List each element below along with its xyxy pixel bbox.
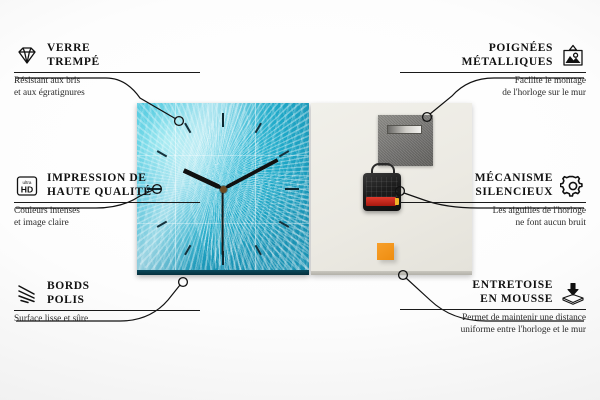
feature-header: ultra HD IMPRESSION DE HAUTE QUALITÉ: [14, 172, 200, 199]
clock-tick: [222, 113, 224, 189]
foam-spacer-icon: [560, 281, 586, 305]
gear-icon: [560, 174, 586, 198]
diamond-icon: [14, 44, 40, 68]
feature-header: ENTRETOISE EN MOUSSE: [400, 279, 586, 306]
feature-header: MÉCANISME SILENCIEUX: [400, 172, 586, 199]
svg-text:HD: HD: [21, 184, 33, 194]
mechanism-texture: [366, 177, 398, 197]
metal-hanger-plate: [378, 115, 433, 166]
feature-description: Résistant aux bris et aux égratignures: [14, 76, 200, 99]
clock-mechanism: [363, 173, 401, 211]
feature-description: Les aiguilles de l'horloge ne font aucun…: [400, 206, 586, 229]
divider: [14, 310, 200, 311]
feature-bords-polis[interactable]: BORDS POLIS Surface lisse et sûre: [14, 280, 200, 326]
feature-poignees-metalliques[interactable]: POIGNÉES MÉTALLIQUES Facilite le montage…: [400, 42, 586, 99]
feature-title: VERRE TREMPÉ: [47, 42, 100, 69]
clock-second-hand: [222, 189, 224, 255]
clock-tick: [223, 188, 299, 190]
infographic-canvas: VERRE TREMPÉ Résistant aux bris et aux é…: [0, 0, 600, 400]
feature-description: Couleurs intenses et image claire: [14, 206, 200, 229]
feature-mecanisme-silencieux[interactable]: MÉCANISME SILENCIEUX Les aiguilles de l'…: [400, 172, 586, 229]
hanging-frame-icon: [560, 44, 586, 68]
feature-title: POIGNÉES MÉTALLIQUES: [462, 42, 553, 69]
feature-impression-haute-qualite[interactable]: ultra HD IMPRESSION DE HAUTE QUALITÉ Cou…: [14, 172, 200, 229]
battery: [366, 197, 396, 206]
feature-header: VERRE TREMPÉ: [14, 42, 200, 69]
feature-description: Surface lisse et sûre: [14, 314, 200, 326]
feature-entretoise-en-mousse[interactable]: ENTRETOISE EN MOUSSE Permet de maintenir…: [400, 279, 586, 336]
feature-title: BORDS POLIS: [47, 280, 90, 307]
feature-title: ENTRETOISE EN MOUSSE: [472, 279, 553, 306]
clock-center-cap: [220, 186, 227, 193]
divider: [14, 202, 200, 203]
feature-title: MÉCANISME SILENCIEUX: [475, 172, 553, 199]
divider: [14, 72, 200, 73]
ultra-hd-icon: ultra HD: [14, 174, 40, 198]
feature-description: Permet de maintenir une distance uniform…: [400, 313, 586, 336]
feature-description: Facilite le montage de l'horloge sur le …: [400, 76, 586, 99]
hanger-slot: [387, 125, 422, 134]
feature-header: BORDS POLIS: [14, 280, 200, 307]
divider: [400, 309, 586, 310]
polished-edge-icon: [14, 282, 40, 306]
feature-header: POIGNÉES MÉTALLIQUES: [400, 42, 586, 69]
foam-spacer: [377, 243, 394, 260]
divider: [400, 202, 586, 203]
feature-title: IMPRESSION DE HAUTE QUALITÉ: [47, 172, 152, 199]
feature-verre-trempe[interactable]: VERRE TREMPÉ Résistant aux bris et aux é…: [14, 42, 200, 99]
divider: [400, 72, 586, 73]
